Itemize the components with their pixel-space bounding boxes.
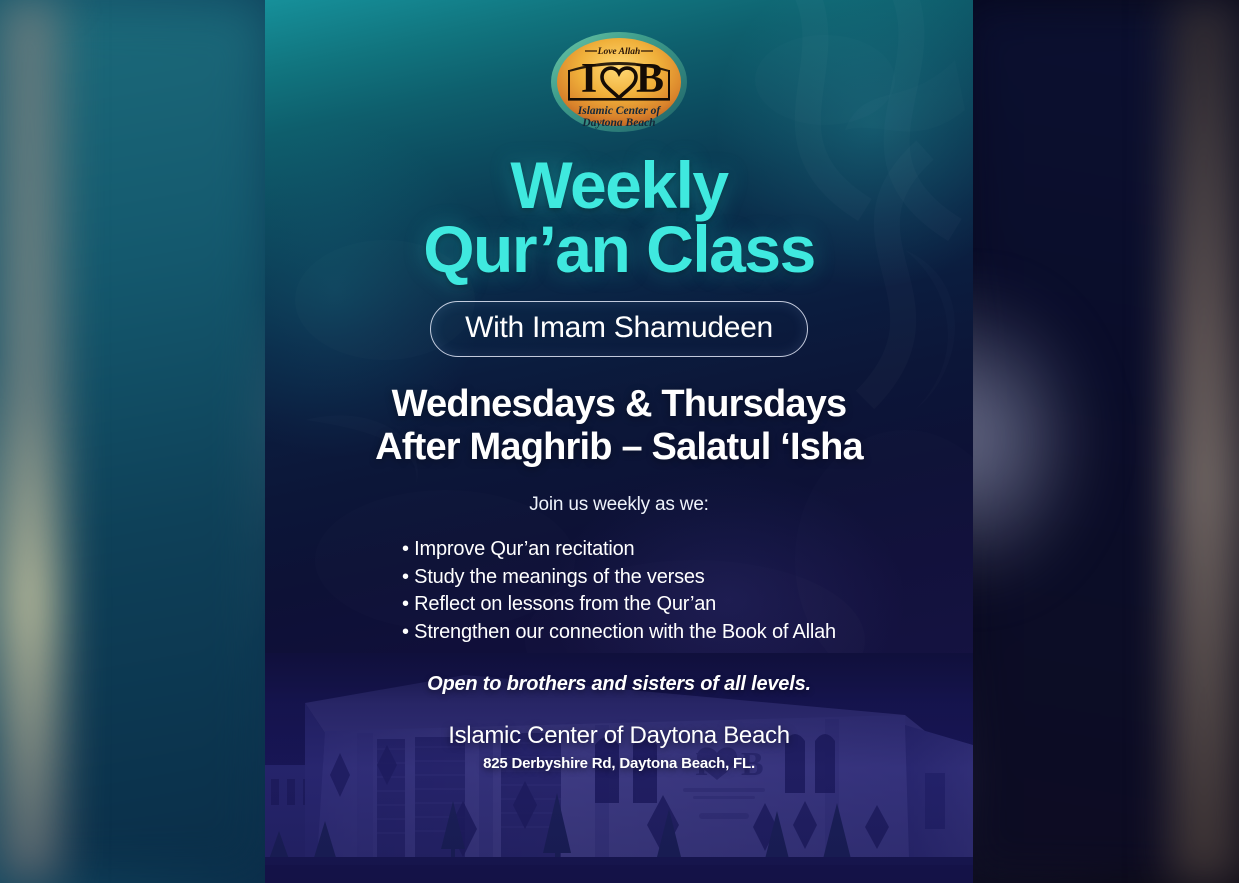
page-title: Weekly Qur’an Class [423,153,815,281]
logo-name-line2: Daytona Beach [581,117,655,129]
list-item: • Improve Qur’an recitation [402,536,836,564]
venue-name: Islamic Center of Daytona Beach [448,722,790,750]
schedule-line-2: After Maghrib – Salatul ‘Isha [375,426,863,469]
open-to-all-note: Open to brothers and sisters of all leve… [427,673,811,696]
list-item: • Study the meanings of the verses [402,564,836,592]
list-item: • Strengthen our connection with the Boo… [402,619,836,647]
join-intro-text: Join us weekly as we: [529,494,709,516]
presenter-badge: With Imam Shamudeen [430,301,808,357]
logo-monogram-b: B [636,56,664,102]
logo-top-text: Love Allah [597,47,641,57]
schedule-line-1: Wednesdays & Thursdays [375,383,863,426]
flyer-poster: I B [265,0,973,883]
headline-line-1: Weekly [423,153,815,217]
backdrop-right-edge-blur [1169,0,1239,883]
logo-name-line1: Islamic Center of [577,105,662,117]
logo-monogram-i: I [581,56,597,102]
benefits-list: • Improve Qur’an recitation • Study the … [402,536,836,646]
backdrop-left-edge-blur [0,0,60,883]
poster-content: Love Allah I B Islamic Center of Daytona… [265,0,973,883]
headline-line-2: Qur’an Class [423,217,815,281]
schedule-heading: Wednesdays & Thursdays After Maghrib – S… [375,383,863,468]
organization-logo: Love Allah I B Islamic Center of Daytona… [549,30,689,135]
venue-address: 825 Derbyshire Rd, Daytona Beach, FL. [448,755,790,772]
list-item: • Reflect on lessons from the Qur’an [402,591,836,619]
venue-footer: Islamic Center of Daytona Beach 825 Derb… [448,722,790,772]
